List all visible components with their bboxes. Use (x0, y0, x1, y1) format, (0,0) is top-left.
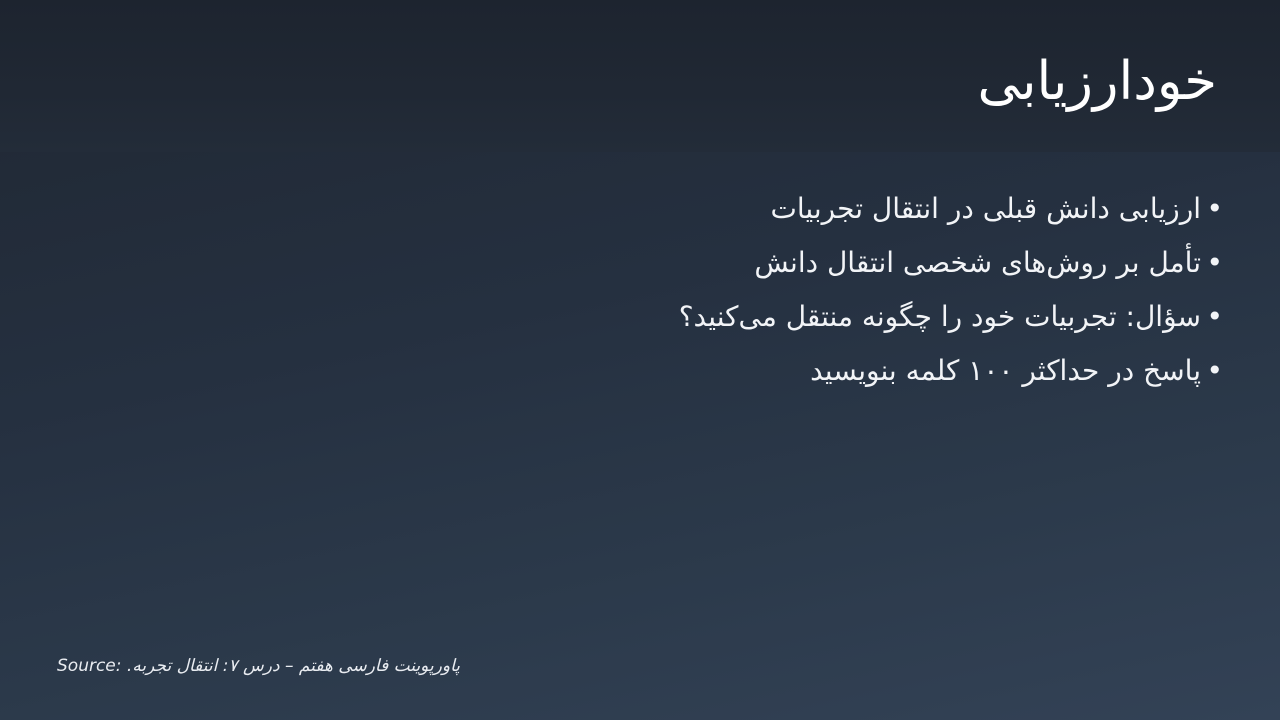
bullet-list: •ارزیابی دانش قبلی در انتقال تجربیات •تأ… (57, 182, 1223, 398)
bullet-marker-icon: • (1201, 182, 1223, 236)
page-title: خودارزیابی (57, 52, 1217, 113)
slide-canvas: خودارزیابی •ارزیابی دانش قبلی در انتقال … (0, 0, 1280, 720)
bullet-marker-icon: • (1201, 236, 1223, 290)
list-item-text: تأمل بر روش‌های شخصی انتقال دانش (754, 236, 1201, 290)
list-item: •پاسخ در حداکثر ۱۰۰ کلمه بنویسید (57, 344, 1223, 398)
list-item-text: سؤال: تجربیات خود را چگونه منتقل می‌کنید… (679, 290, 1201, 344)
bullet-marker-icon: • (1201, 290, 1223, 344)
source-caption: Source: پاورپوینت فارسی هفتم – درس ۷: ان… (57, 656, 460, 676)
source-label: Source: (57, 656, 122, 676)
list-item: •سؤال: تجربیات خود را چگونه منتقل می‌کنی… (57, 290, 1223, 344)
list-item-text: ارزیابی دانش قبلی در انتقال تجربیات (771, 182, 1201, 236)
list-item-text: پاسخ در حداکثر ۱۰۰ کلمه بنویسید (810, 344, 1201, 398)
source-value: پاورپوینت فارسی هفتم – درس ۷: انتقال تجر… (127, 656, 460, 676)
bullet-marker-icon: • (1201, 344, 1223, 398)
list-item: •ارزیابی دانش قبلی در انتقال تجربیات (57, 182, 1223, 236)
list-item: •تأمل بر روش‌های شخصی انتقال دانش (57, 236, 1223, 290)
